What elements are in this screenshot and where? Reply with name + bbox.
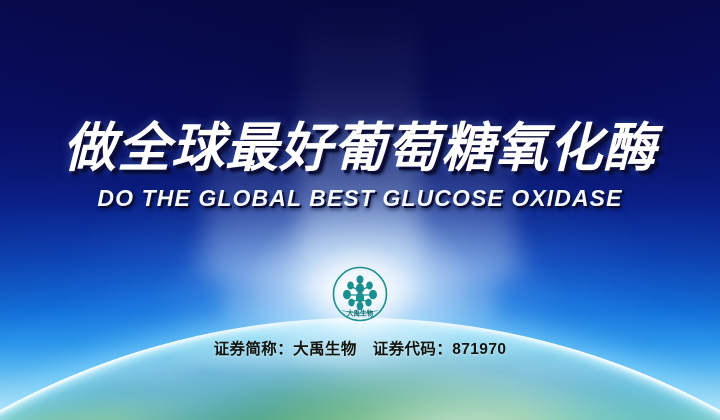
stock-name-label: 证券简称：	[214, 341, 294, 358]
headline-block: 做全球最好葡萄糖氧化酶 DO THE GLOBAL BEST GLUCOSE O…	[0, 118, 720, 212]
logo-wordmark: 大禹生物	[347, 309, 374, 318]
stock-name-value: 大禹生物	[293, 341, 357, 358]
headline-chinese: 做全球最好葡萄糖氧化酶	[0, 118, 720, 180]
stock-listing-line: 证券简称：大禹生物证券代码：871970	[0, 339, 720, 361]
stock-code-label: 证券代码：	[373, 341, 453, 358]
promotional-poster: 做全球最好葡萄糖氧化酶 DO THE GLOBAL BEST GLUCOSE O…	[0, 0, 720, 420]
headline-english: DO THE GLOBAL BEST GLUCOSE OXIDASE	[0, 184, 720, 212]
dayu-biology-logo: 大禹生物	[331, 265, 389, 323]
stock-code-value: 871970	[452, 341, 506, 358]
